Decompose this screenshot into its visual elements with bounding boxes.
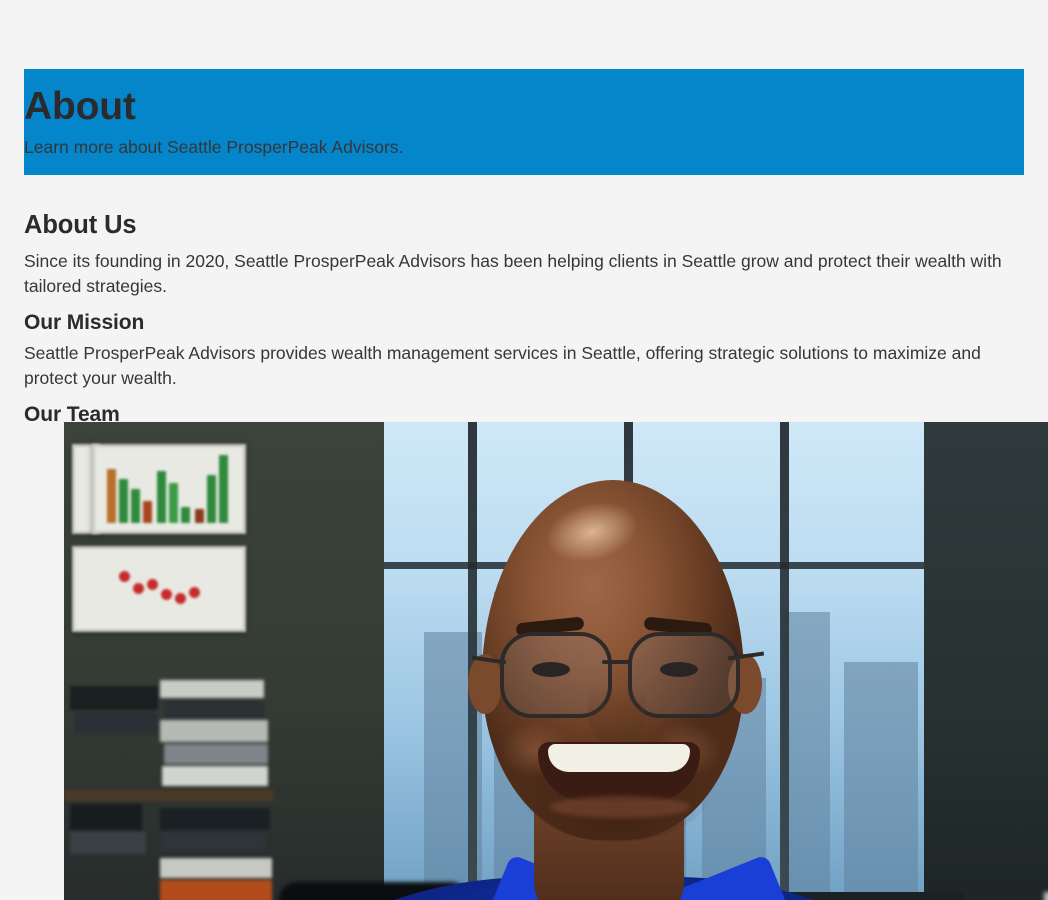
page-hero-banner: About Learn more about Seattle ProsperPe… [24,69,1024,175]
teeth [548,744,690,772]
team-photo-container: SEATTLE GHETRERGE PROBBENRGES [64,422,1048,900]
team-member-portrait: SEATTLE GHETRERGE PROBBENRGES [64,422,1048,900]
team-photo: SEATTLE GHETRERGE PROBBENRGES [64,422,1048,900]
our-mission-paragraph: Seattle ProsperPeak Advisors provides we… [24,341,1024,391]
about-page: About Learn more about Seattle ProsperPe… [0,0,1048,900]
our-mission-heading: Our Mission [24,310,1024,336]
our-mission-section: Our Mission Seattle ProsperPeak Advisors… [24,310,1024,391]
about-us-heading: About Us [24,209,1024,241]
about-content: About Us Since its founding in 2020, Sea… [24,209,1024,433]
page-subtitle: Learn more about Seattle ProsperPeak Adv… [24,136,403,158]
eyeglasses-bridge [602,660,632,664]
lower-lip [550,796,690,818]
about-us-paragraph: Since its founding in 2020, Seattle Pros… [24,249,1024,299]
about-us-section: About Us Since its founding in 2020, Sea… [24,209,1024,299]
mouth [538,742,700,802]
page-title: About [24,85,136,129]
